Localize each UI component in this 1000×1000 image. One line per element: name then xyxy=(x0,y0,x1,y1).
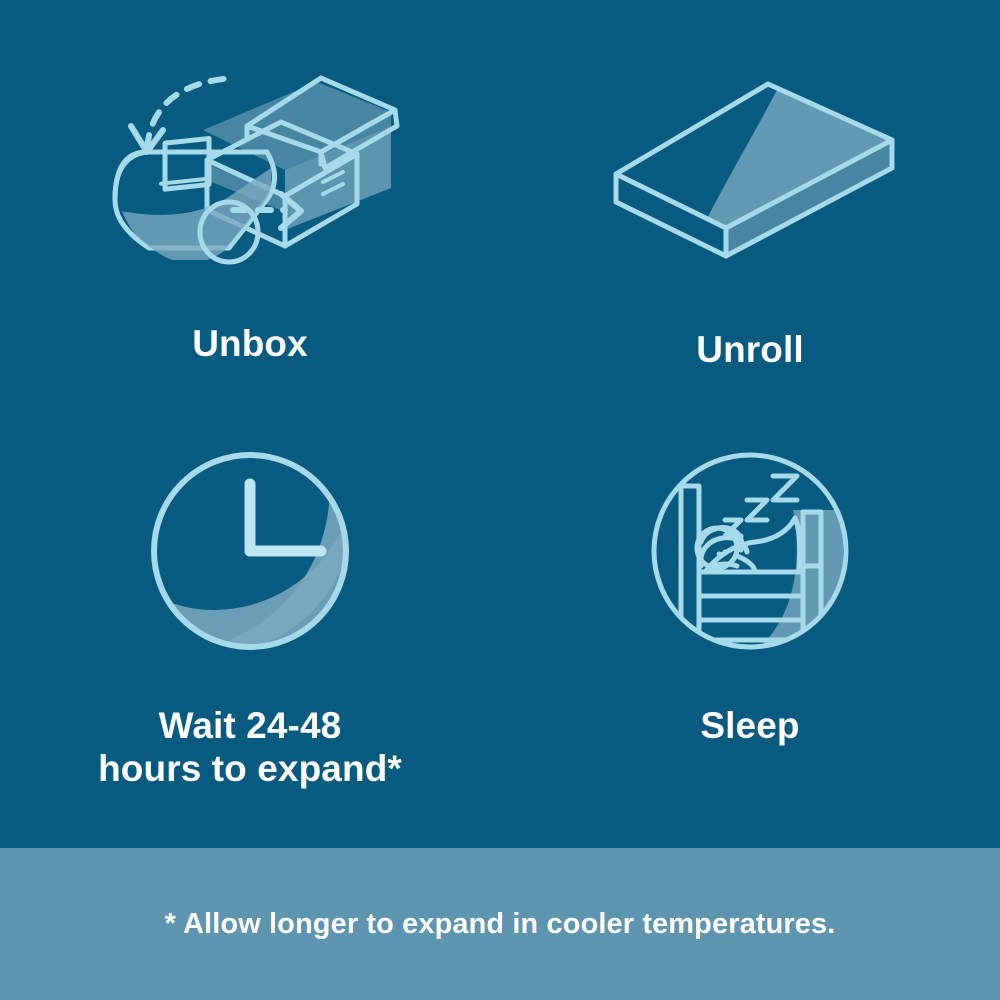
box-with-rolled-mattress-icon xyxy=(85,60,415,295)
step-label-unbox: Unbox xyxy=(192,323,308,366)
steps-grid: Unbox xyxy=(0,0,1000,848)
step-label-unroll: Unroll xyxy=(696,329,803,372)
step-sleep: Sleep xyxy=(500,424,1000,848)
step-unroll: Unroll xyxy=(500,0,1000,424)
step-unbox: Unbox xyxy=(0,0,500,424)
person-sleeping-in-bed-icon xyxy=(643,444,857,663)
step-label-sleep: Sleep xyxy=(700,705,799,748)
footnote-text: * Allow longer to expand in cooler tempe… xyxy=(165,908,836,941)
step-label-wait: Wait 24-48 hours to expand* xyxy=(98,705,402,790)
infographic-root: Unbox xyxy=(0,0,1000,1000)
flat-mattress-icon xyxy=(600,60,900,295)
footnote-band: * Allow longer to expand in cooler tempe… xyxy=(0,848,1000,1000)
clock-icon xyxy=(143,444,357,663)
step-wait: Wait 24-48 hours to expand* xyxy=(0,424,500,848)
